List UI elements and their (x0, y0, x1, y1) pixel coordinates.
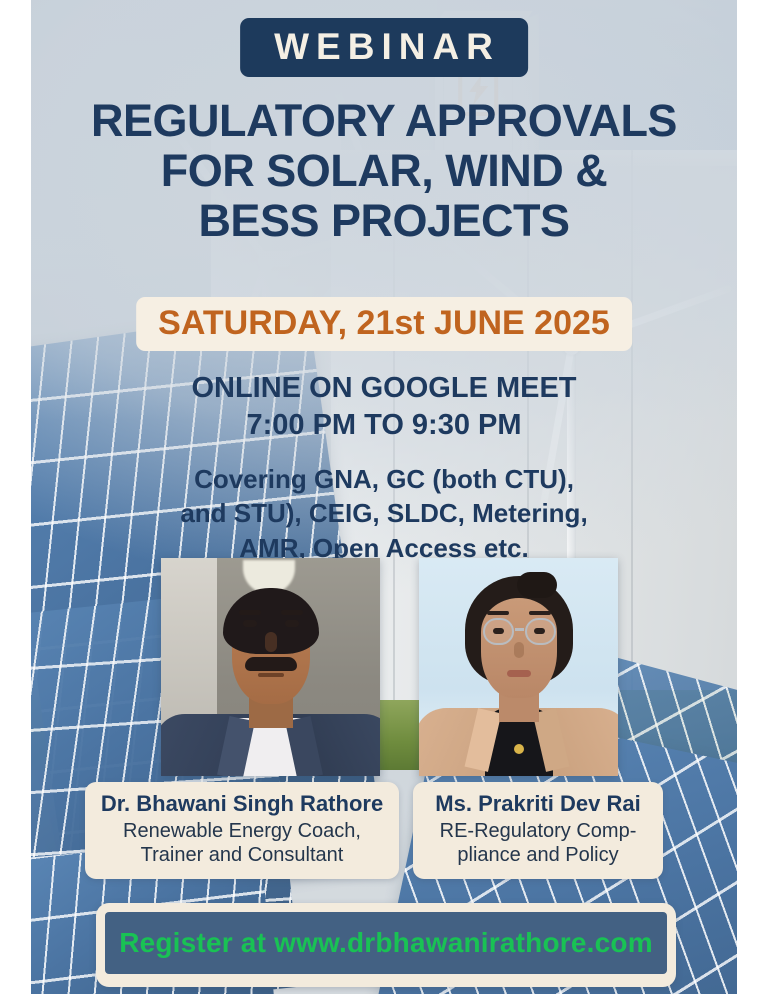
speaker-name: Ms. Prakriti Dev Rai (427, 791, 649, 817)
coverage-line-1: Covering GNA, GC (both CTU), (57, 462, 711, 496)
speaker-role-line-1: Renewable Energy Coach, (99, 819, 385, 843)
register-url-text[interactable]: Register at www.drbhawanirathore.com (119, 927, 653, 959)
register-banner[interactable]: Register at www.drbhawanirathore.com (96, 903, 676, 987)
webinar-poster: WEBINAR REGULATORY APPROVALS FOR SOLAR, … (0, 0, 768, 994)
meeting-platform: ONLINE ON GOOGLE MEET (31, 370, 737, 407)
speaker-photo-prakriti-dev-rai (419, 558, 618, 776)
speaker-role: RE-Regulatory Comp- pliance and Policy (427, 819, 649, 868)
speaker-role-line-2: pliance and Policy (427, 843, 649, 867)
poster-content: WEBINAR REGULATORY APPROVALS FOR SOLAR, … (31, 0, 737, 994)
coverage-topics: Covering GNA, GC (both CTU), and STU), C… (31, 462, 737, 565)
poster-artwork: WEBINAR REGULATORY APPROVALS FOR SOLAR, … (31, 0, 737, 994)
coverage-line-2: and STU), CEIG, SLDC, Metering, (57, 496, 711, 530)
event-date-banner: SATURDAY, 21st JUNE 2025 (136, 297, 632, 351)
speaker-card-bhawani-singh-rathore: Dr. Bhawani Singh Rathore Renewable Ener… (85, 782, 399, 879)
webinar-badge: WEBINAR (240, 18, 528, 77)
speaker-role: Renewable Energy Coach, Trainer and Cons… (99, 819, 385, 868)
register-banner-inner[interactable]: Register at www.drbhawanirathore.com (105, 912, 667, 974)
meeting-time: 7:00 PM TO 9:30 PM (31, 407, 737, 444)
headline-line-1: REGULATORY APPROVALS (65, 96, 703, 146)
meeting-details: ONLINE ON GOOGLE MEET 7:00 PM TO 9:30 PM (31, 370, 737, 443)
headline-line-3: BESS PROJECTS (65, 196, 703, 246)
speaker-role-line-2: Trainer and Consultant (99, 843, 385, 867)
headline-line-2: FOR SOLAR, WIND & (65, 146, 703, 196)
speaker-role-line-1: RE-Regulatory Comp- (427, 819, 649, 843)
speaker-photo-bhawani-singh-rathore (161, 558, 380, 776)
speaker-name: Dr. Bhawani Singh Rathore (99, 791, 385, 817)
speaker-card-prakriti-dev-rai: Ms. Prakriti Dev Rai RE-Regulatory Comp-… (413, 782, 663, 879)
page-title: REGULATORY APPROVALS FOR SOLAR, WIND & B… (31, 96, 737, 246)
